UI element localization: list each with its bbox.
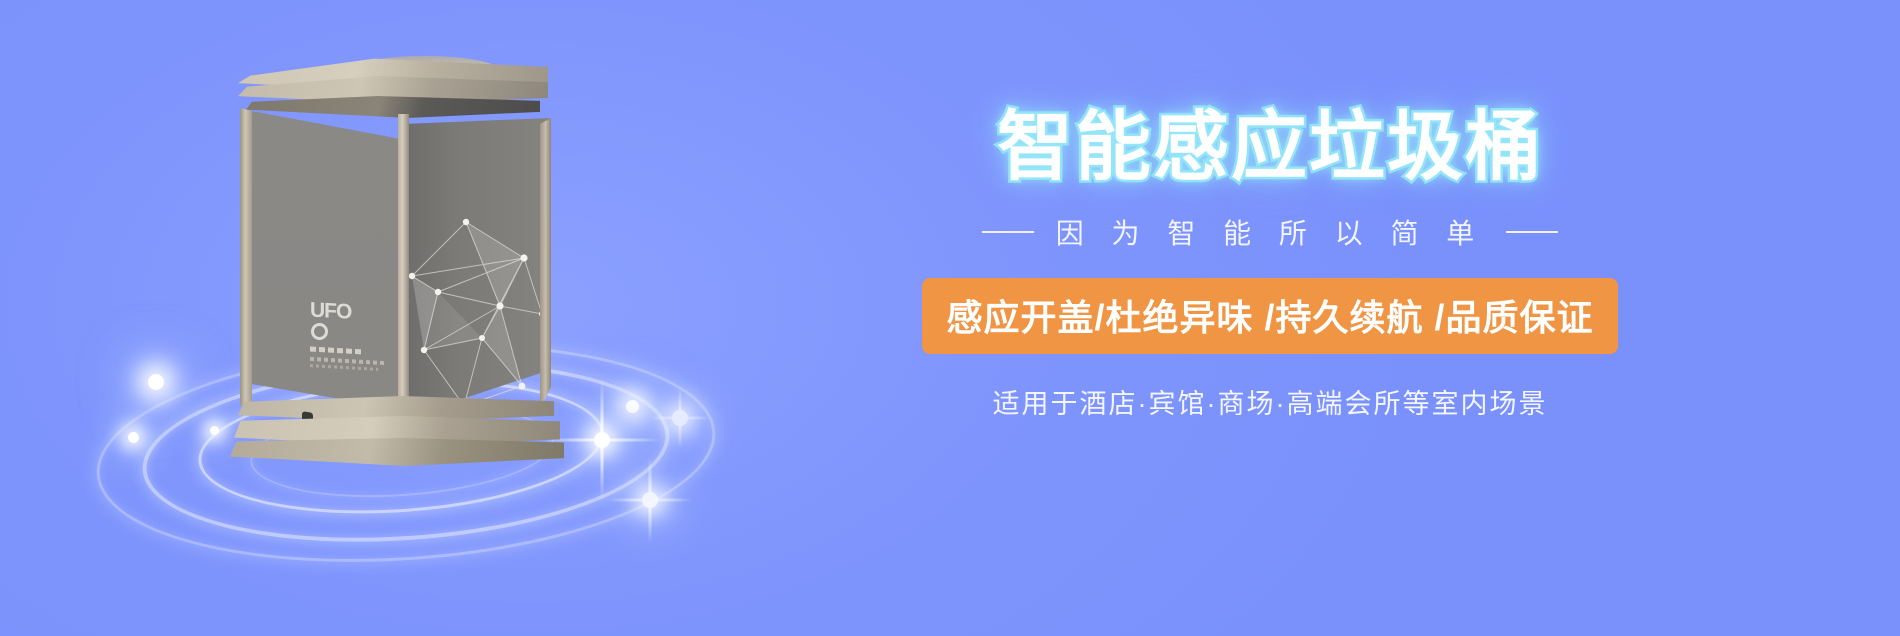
product-illustration: UFO bbox=[90, 40, 730, 560]
trash-bin-body: UFO bbox=[238, 40, 558, 470]
bin-base-bottom bbox=[230, 438, 564, 466]
glow-dot-icon bbox=[210, 426, 219, 435]
divider-dash-right bbox=[1506, 231, 1558, 233]
bin-edge-left bbox=[240, 108, 252, 414]
glow-dot-icon bbox=[128, 432, 139, 443]
promo-banner: UFO 智能感应垃圾桶 因 为 智 能 所 以 简 单 感应开盖/杜绝异味 /持… bbox=[0, 0, 1900, 636]
sparkle-star-icon bbox=[608, 458, 692, 542]
feature-badge: 感应开盖/杜绝异味 /持久续航 /品质保证 bbox=[922, 278, 1617, 354]
bin-edge-center bbox=[398, 114, 409, 422]
usage-scenario-text: 适用于酒店·宾馆·商场·高端会所等室内场景 bbox=[740, 382, 1800, 421]
brand-mark-text: UFO bbox=[310, 299, 400, 325]
brand-ring-icon bbox=[311, 323, 328, 340]
banner-copy: 智能感应垃圾桶 因 为 智 能 所 以 简 单 感应开盖/杜绝异味 /持久续航 … bbox=[740, 110, 1800, 421]
subtitle-text: 因 为 智 能 所 以 简 单 bbox=[1056, 212, 1484, 252]
feature-badge-row: 感应开盖/杜绝异味 /持久续航 /品质保证 bbox=[740, 278, 1800, 354]
glow-dot-icon bbox=[148, 374, 164, 390]
brand-subtext-line bbox=[310, 346, 364, 354]
divider-dash-left bbox=[982, 231, 1034, 233]
page-title: 智能感应垃圾桶 bbox=[740, 110, 1800, 186]
bin-edge-right bbox=[540, 118, 551, 410]
sparkle-star-icon bbox=[650, 388, 710, 448]
brand-logo: UFO bbox=[310, 302, 400, 360]
subtitle: 因 为 智 能 所 以 简 单 bbox=[740, 212, 1800, 252]
